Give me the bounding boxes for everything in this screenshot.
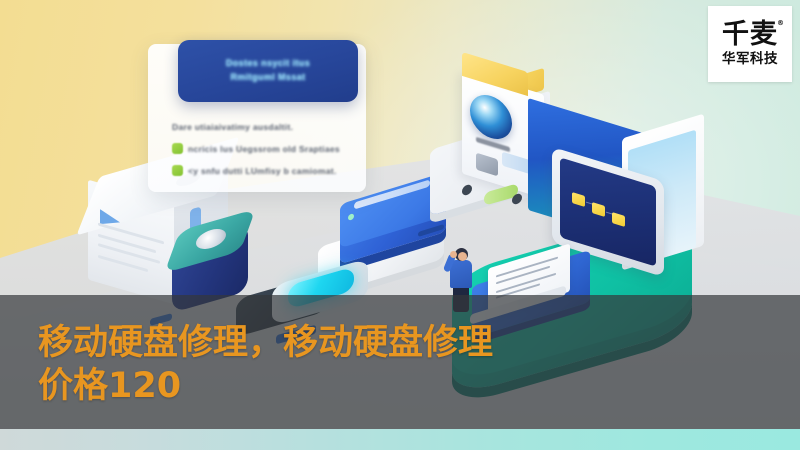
logo-brand-name: 千麦 (722, 19, 778, 50)
logo-sub-text: 华军科技 (722, 53, 778, 67)
page-title-line-1: 移动硬盘修理，移动硬盘修理 (38, 322, 740, 365)
info-card-bullets: Dare utiaiaivatimy ausdaltit. ncricis lu… (172, 120, 358, 186)
check-bullet-icon (172, 143, 183, 154)
info-card-header: Dostes nsycit itus Rmitguml Mssat (178, 40, 358, 102)
header-line-1: Dostes nsycit itus (226, 57, 310, 71)
page-title-line-2: 价格120 (38, 365, 740, 408)
header-line-2: Rmitguml Mssat (226, 71, 310, 85)
brand-logo: 千麦 ® 华军科技 (708, 6, 792, 82)
bottom-strip (0, 429, 800, 450)
check-bullet-icon (172, 165, 183, 176)
logo-main-text: 千麦 ® (722, 21, 778, 48)
technician-body (450, 260, 472, 288)
info-card-body-row: Dare utiaiaivatimy ausdaltit. (172, 120, 358, 133)
list-item: <y snfu dutti LUmfisy b camiomat. (172, 164, 358, 177)
page-title: 移动硬盘修理，移动硬盘修理 价格120 (38, 322, 740, 408)
list-item-label: <y snfu dutti LUmfisy b camiomat. (188, 166, 337, 176)
technician-face (458, 252, 467, 261)
info-card-header-text: Dostes nsycit itus Rmitguml Mssat (226, 57, 310, 85)
registered-mark-icon: ® (777, 20, 785, 27)
list-item-label: ncricis lus Uegssrom old Sraptiaes (188, 144, 340, 154)
list-item: ncricis lus Uegssrom old Sraptiaes (172, 142, 358, 155)
screenshot-canvas: Dostes nsycit itus Rmitguml Mssat Dare u… (0, 0, 800, 450)
technician-hand (450, 251, 457, 258)
info-card-body-text: Dare utiaiaivatimy ausdaltit. (172, 122, 293, 132)
